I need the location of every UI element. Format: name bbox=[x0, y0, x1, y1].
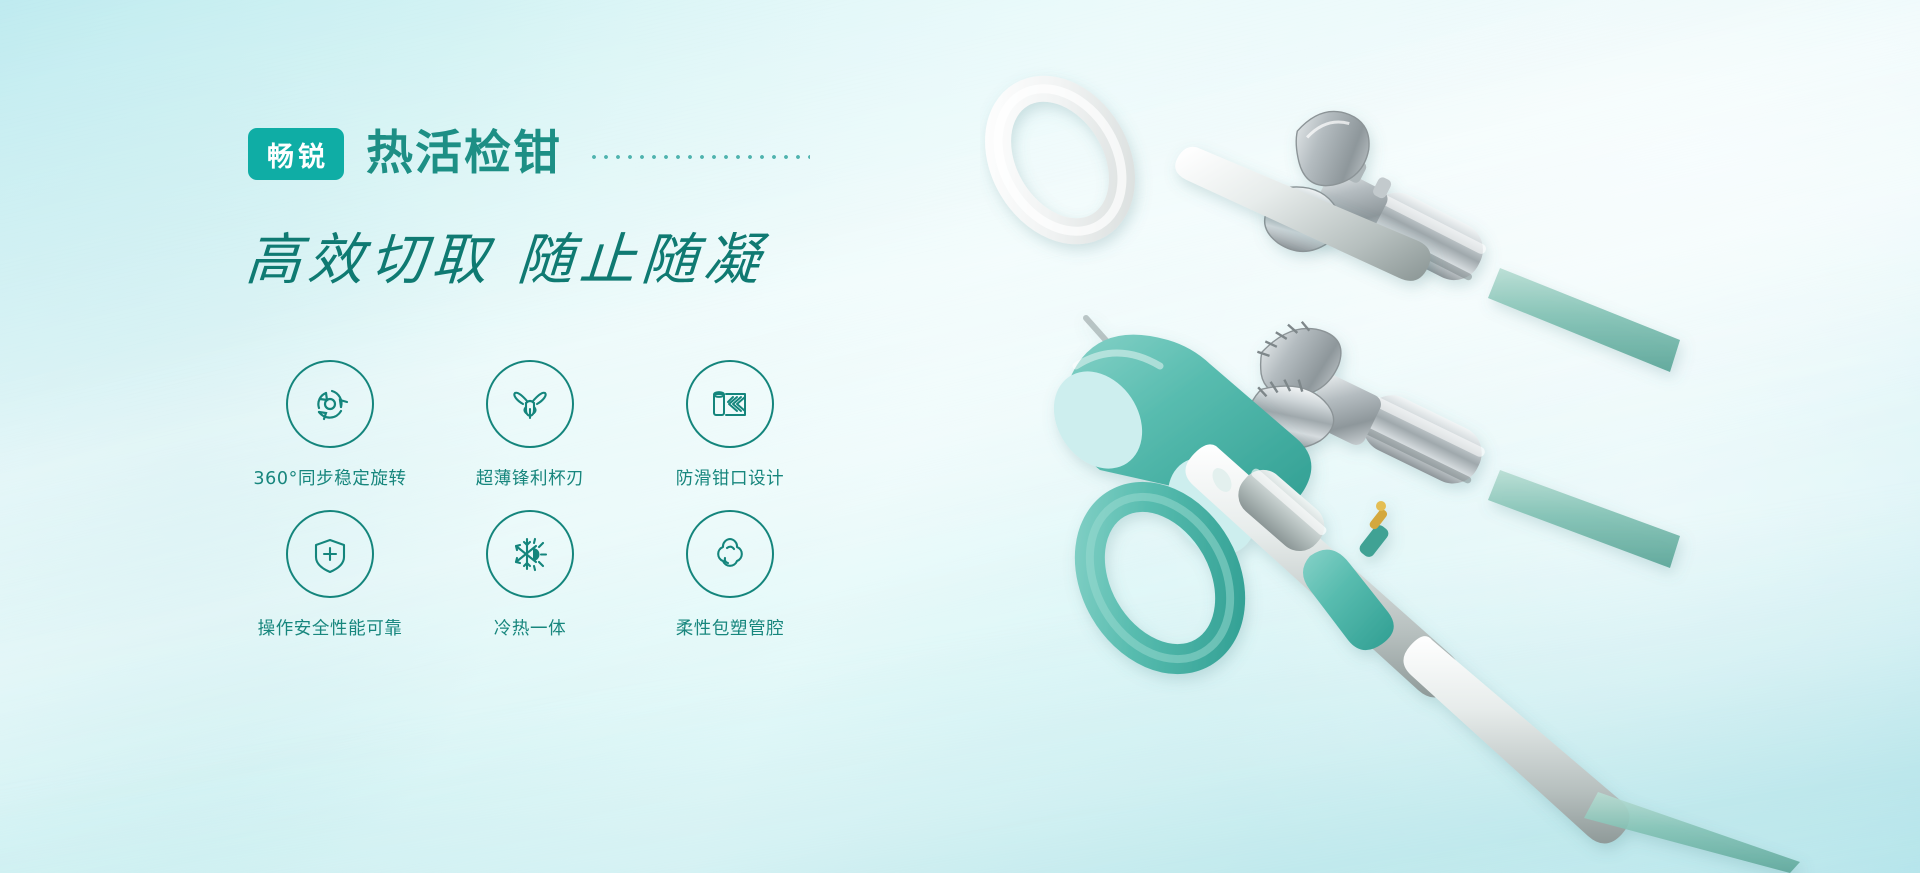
product-banner: 畅锐 热活检钳 高效切取 随止随凝 bbox=[0, 0, 1920, 873]
feature-label: 冷热一体 bbox=[494, 615, 566, 640]
banner-content: 畅锐 热活检钳 高效切取 随止随凝 bbox=[0, 0, 1000, 873]
feature-grid: 360°同步稳定旋转 bbox=[230, 360, 850, 660]
white-ring-handle bbox=[980, 66, 1147, 254]
rotation-sync-icon bbox=[305, 379, 355, 429]
feature-icon-circle bbox=[686, 510, 774, 598]
feature-label: 操作安全性能可靠 bbox=[258, 615, 403, 640]
title-row: 畅锐 热活检钳 bbox=[248, 128, 810, 180]
feature-item: 超薄锋利杯刃 bbox=[430, 360, 630, 510]
feature-icon-circle bbox=[286, 510, 374, 598]
feature-label: 防滑钳口设计 bbox=[676, 465, 785, 490]
brand-badge: 畅锐 bbox=[248, 128, 344, 180]
feature-item: 冷热一体 bbox=[430, 510, 630, 660]
anti-slip-jaw-icon bbox=[705, 379, 755, 429]
page-title: 热活检钳 bbox=[366, 128, 562, 180]
feature-icon-circle bbox=[286, 360, 374, 448]
feature-label: 柔性包塑管腔 bbox=[676, 615, 785, 640]
feature-label: 超薄锋利杯刃 bbox=[476, 465, 585, 490]
hot-cold-icon bbox=[505, 529, 555, 579]
sharp-cup-blade-icon bbox=[505, 379, 555, 429]
feature-icon-circle bbox=[686, 360, 774, 448]
dotted-divider bbox=[588, 155, 810, 159]
feature-item: 操作安全性能可靠 bbox=[230, 510, 430, 660]
product-image bbox=[980, 0, 1920, 873]
feature-item: 360°同步稳定旋转 bbox=[230, 360, 430, 510]
feature-item: 防滑钳口设计 bbox=[630, 360, 830, 510]
feature-label: 360°同步稳定旋转 bbox=[253, 465, 406, 490]
flexible-lumen-icon bbox=[705, 529, 755, 579]
shield-plus-icon bbox=[305, 529, 355, 579]
feature-item: 柔性包塑管腔 bbox=[630, 510, 830, 660]
feature-icon-circle bbox=[486, 360, 574, 448]
slogan: 高效切取 随止随凝 bbox=[243, 215, 768, 296]
feature-icon-circle bbox=[486, 510, 574, 598]
